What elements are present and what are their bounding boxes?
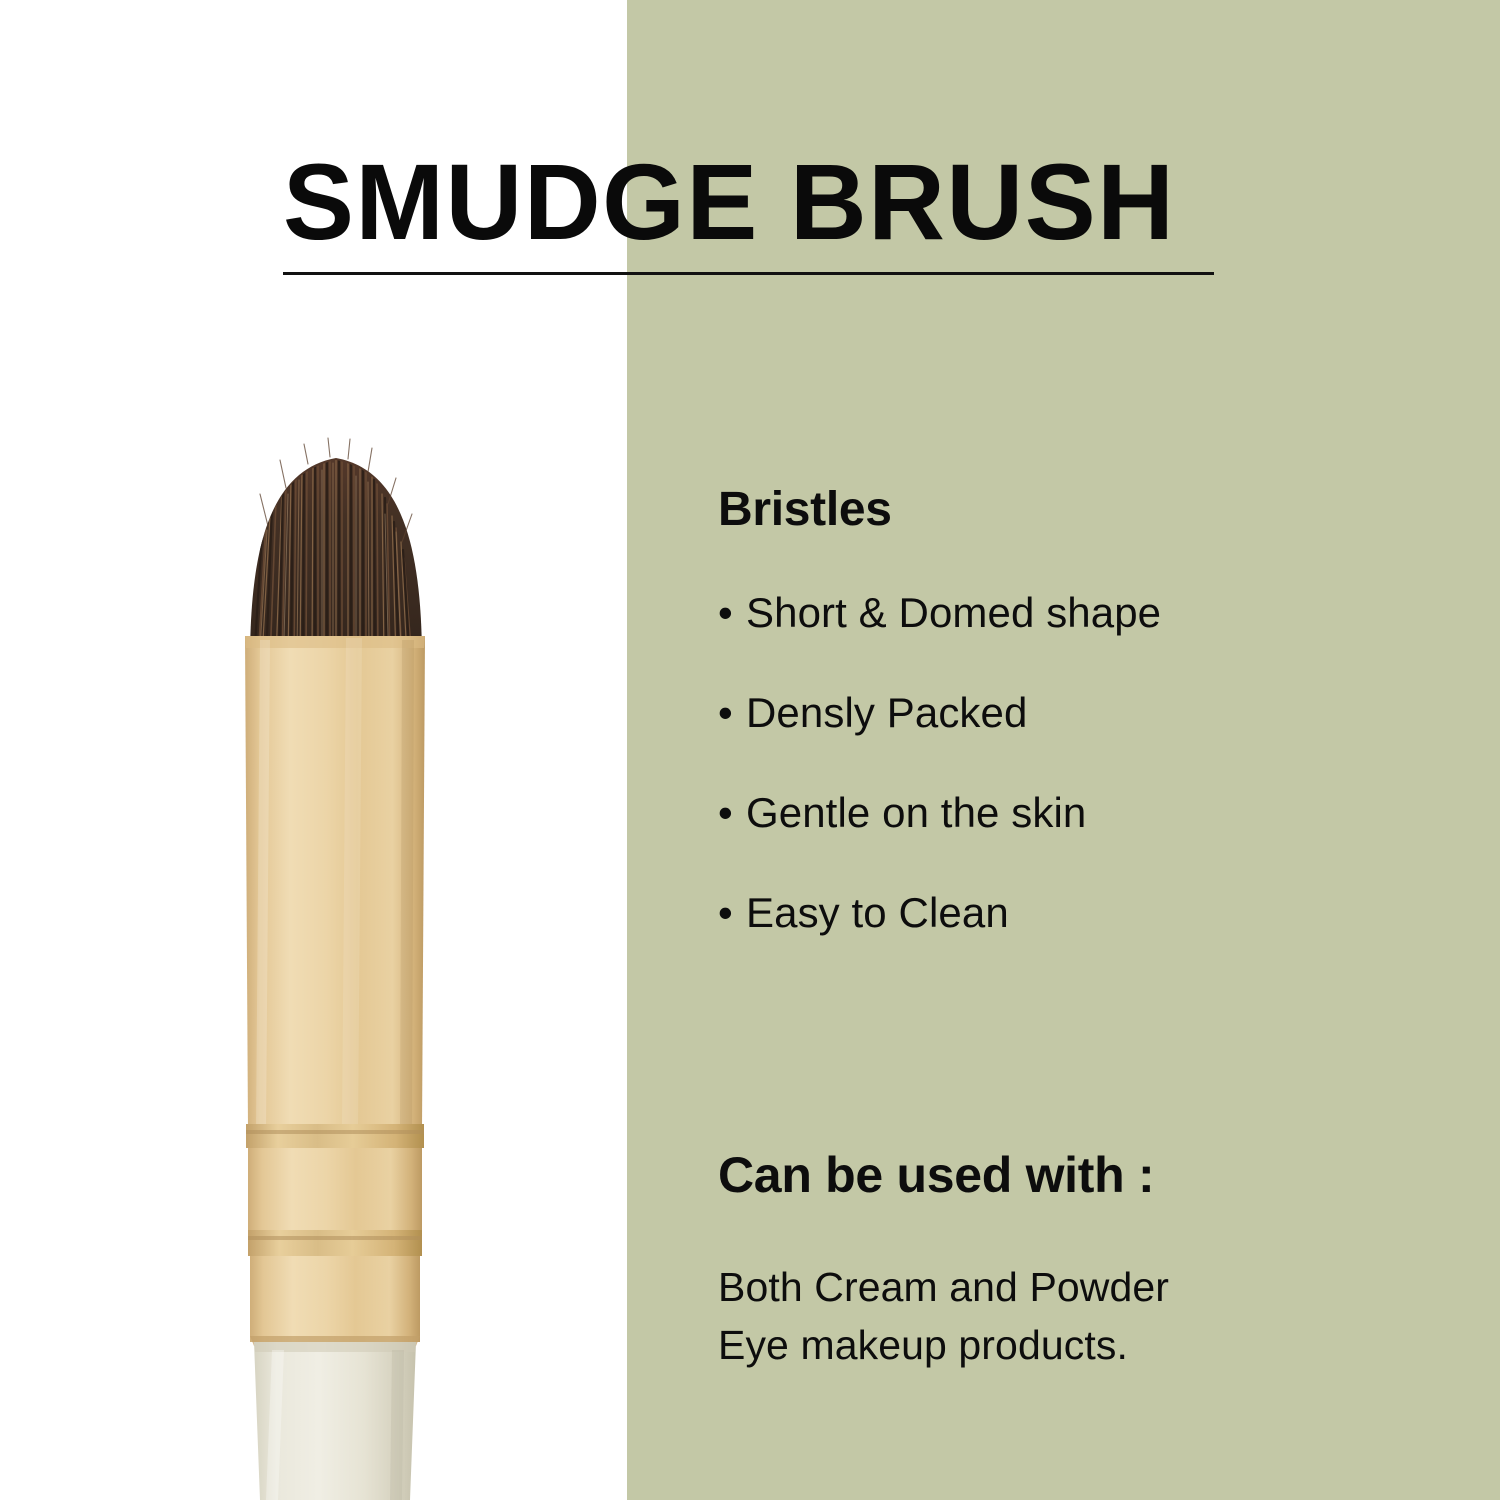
title-divider-rule bbox=[283, 272, 1214, 275]
bullet-dot-icon: • bbox=[718, 592, 746, 634]
page-title-block: SMUDGE BRUSH bbox=[283, 148, 1218, 256]
list-item: • Easy to Clean bbox=[718, 892, 1161, 992]
list-item-label: Gentle on the skin bbox=[746, 792, 1086, 834]
used-with-line: Both Cream and Powder bbox=[718, 1258, 1338, 1316]
used-with-description: Both Cream and Powder Eye makeup product… bbox=[718, 1258, 1338, 1374]
page-title: SMUDGE BRUSH bbox=[283, 148, 1204, 256]
list-item: • Gentle on the skin bbox=[718, 792, 1161, 892]
smudge-brush-photo bbox=[196, 430, 496, 1500]
list-item-label: Easy to Clean bbox=[746, 892, 1009, 934]
list-item: • Densly Packed bbox=[718, 692, 1161, 792]
ferrule-rings bbox=[246, 1124, 424, 1346]
ferrule bbox=[245, 636, 425, 1130]
list-item: • Short & Domed shape bbox=[718, 592, 1161, 692]
used-with-line: Eye makeup products. bbox=[718, 1316, 1338, 1374]
bristle-head bbox=[250, 438, 422, 662]
list-item-label: Densly Packed bbox=[746, 692, 1027, 734]
bristles-heading: Bristles bbox=[718, 486, 892, 534]
bristles-feature-list: • Short & Domed shape • Densly Packed • … bbox=[718, 592, 1161, 992]
handle bbox=[254, 1342, 416, 1500]
bullet-dot-icon: • bbox=[718, 892, 746, 934]
used-with-heading: Can be used with : bbox=[718, 1150, 1154, 1200]
product-infographic-page: SMUDGE BRUSH Bristles • Short & Domed sh… bbox=[0, 0, 1500, 1500]
bullet-dot-icon: • bbox=[718, 792, 746, 834]
list-item-label: Short & Domed shape bbox=[746, 592, 1161, 634]
bullet-dot-icon: • bbox=[718, 692, 746, 734]
